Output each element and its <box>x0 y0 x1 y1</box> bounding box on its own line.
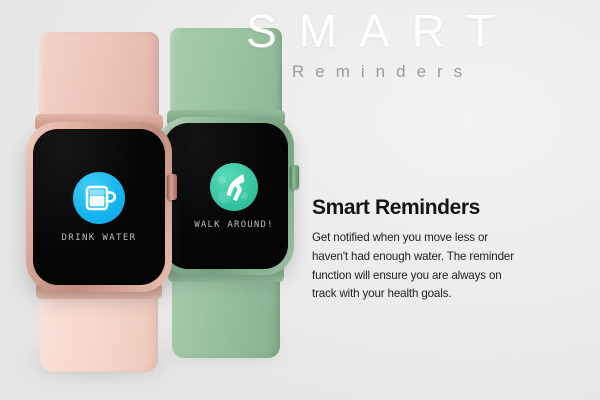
pink-watch-case: DRINK WATER <box>26 122 172 292</box>
pink-watch-screen[interactable]: DRINK WATER <box>33 129 165 285</box>
hero-heading-group: SMART Reminders <box>246 8 600 80</box>
green-watch-case: WALK AROUND! <box>158 117 294 275</box>
feature-copy-block: Smart Reminders Get notified when you mo… <box>312 196 526 304</box>
hero-title: SMART <box>246 8 600 54</box>
feature-description: Get notified when you move less or haven… <box>312 229 526 304</box>
hero-subtitle: Reminders <box>246 63 600 80</box>
pink-watch-crown-button[interactable] <box>167 174 177 200</box>
green-watch-screen-label: WALK AROUND! <box>194 220 273 230</box>
green-watch-screen[interactable]: WALK AROUND! <box>164 123 288 269</box>
water-cup-icon <box>73 172 125 224</box>
green-watch-crown-button[interactable] <box>290 165 299 189</box>
feature-heading: Smart Reminders <box>312 196 526 219</box>
pink-watch[interactable]: DRINK WATER <box>26 32 172 372</box>
promo-banner: WALK AROUND! <box>0 0 600 400</box>
pink-watch-screen-label: DRINK WATER <box>61 233 136 243</box>
walking-person-icon <box>210 163 258 211</box>
